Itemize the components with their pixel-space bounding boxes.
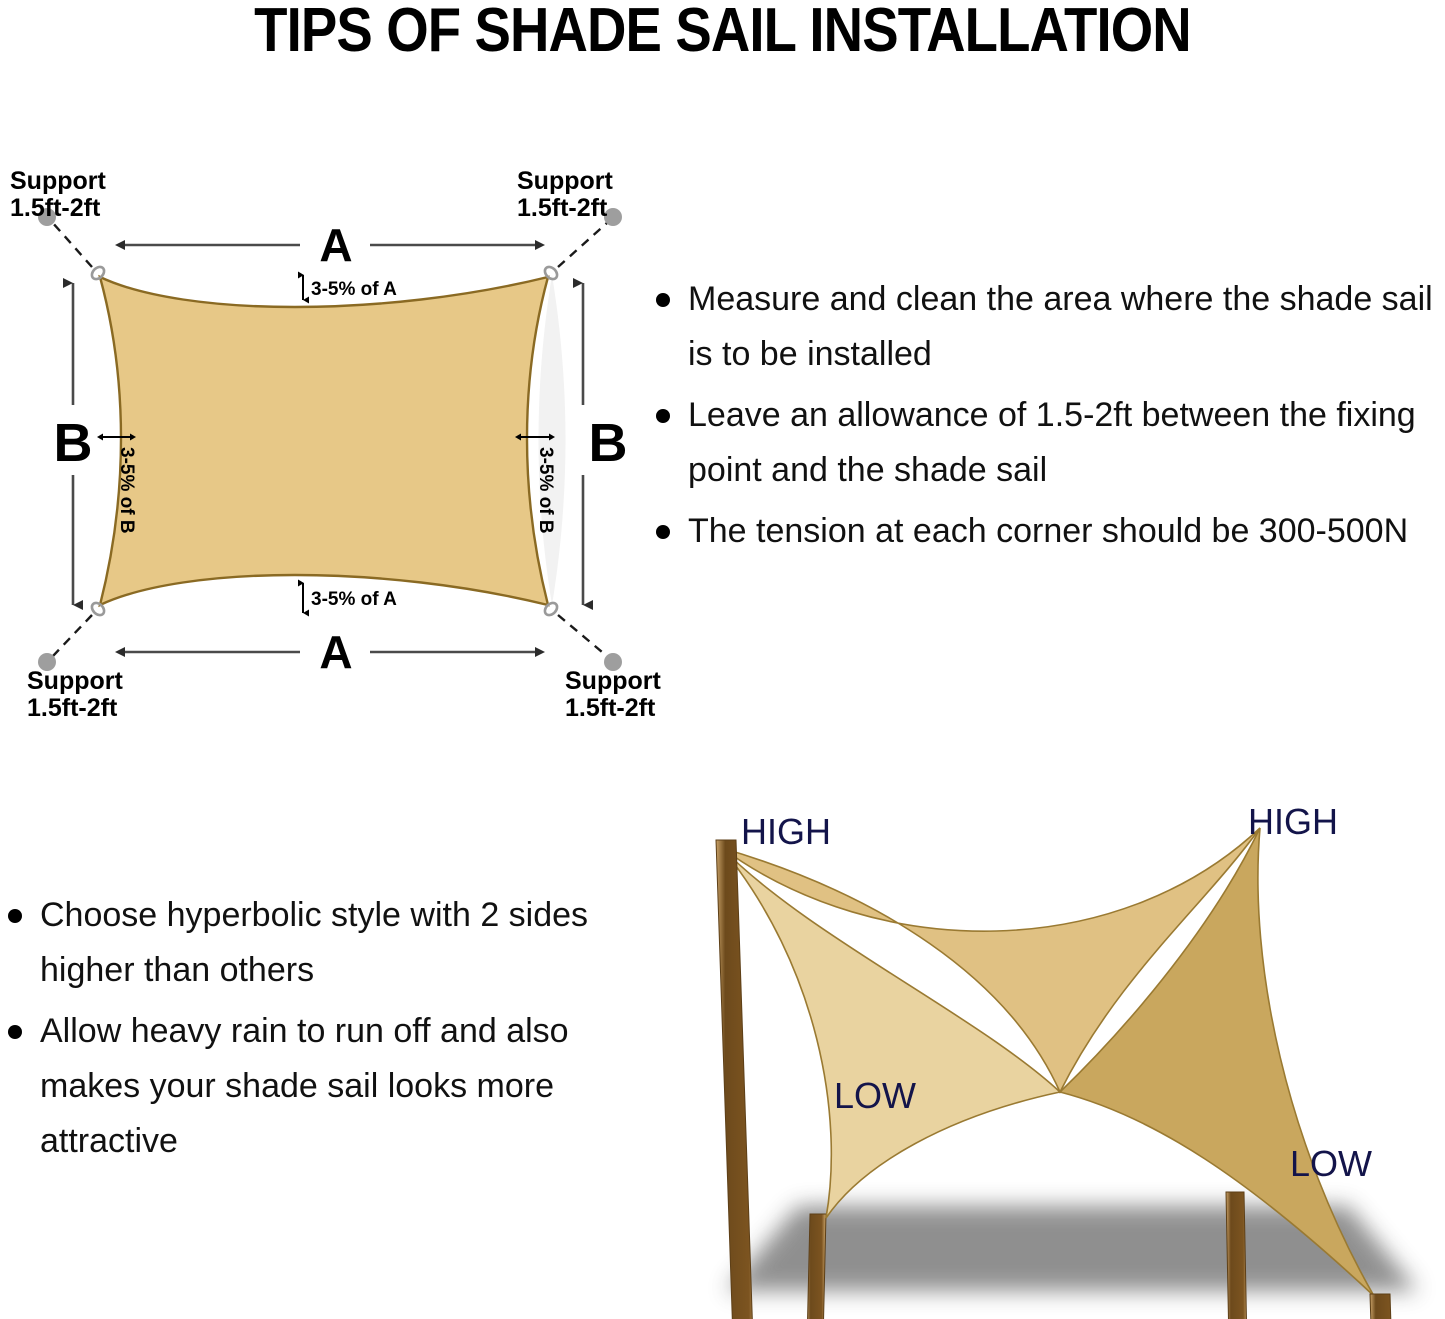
dimension-label-b-left: B xyxy=(54,413,93,473)
shade-sail-shape xyxy=(100,277,548,605)
infographic-page: TIPS OF SHADE SAIL INSTALLATION xyxy=(0,0,1445,1319)
support-label-top-right-line2: 1.5ft-2ft xyxy=(517,194,608,222)
curve-note-right: 3-5% of B xyxy=(535,447,556,534)
label-high-right: HIGH xyxy=(1248,801,1338,842)
tip-text: Leave an allowance of 1.5-2ft between th… xyxy=(688,396,1416,489)
support-label-bottom-right-line2: 1.5ft-2ft xyxy=(565,694,656,720)
rectangular-sail-diagram: A A B B 3-5% of A 3- xyxy=(0,165,680,720)
hyperbolic-sail-illustration: HIGH HIGH LOW LOW xyxy=(648,786,1445,1319)
curve-note-bottom: 3-5% of A xyxy=(311,589,397,610)
list-item: Leave an allowance of 1.5-2ft between th… xyxy=(648,388,1445,498)
list-item: Allow heavy rain to run off and also mak… xyxy=(0,1004,630,1169)
post-high-right-support xyxy=(1226,1192,1248,1319)
support-label-top-right: Support 1.5ft-2ft xyxy=(517,167,613,222)
page-title: TIPS OF SHADE SAIL INSTALLATION xyxy=(87,0,1359,63)
support-label-bottom-right-line1: Support xyxy=(565,667,661,695)
tip-text: Measure and clean the area where the sha… xyxy=(688,280,1433,373)
dimension-label-b-right: B xyxy=(589,413,628,473)
support-label-bottom-left-line1: Support xyxy=(27,667,123,695)
post-high-left xyxy=(716,840,758,1319)
label-low-left: LOW xyxy=(834,1075,916,1116)
hyperbolic-style-tips-list: Choose hyperbolic style with 2 sides hig… xyxy=(0,888,630,1175)
support-label-bottom-left-line2: 1.5ft-2ft xyxy=(27,694,118,720)
list-item: The tension at each corner should be 300… xyxy=(648,504,1445,559)
tip-text: Choose hyperbolic style with 2 sides hig… xyxy=(40,896,588,989)
sail-edge-highlight xyxy=(539,275,566,605)
curve-note-top: 3-5% of A xyxy=(311,279,397,300)
sail-panel-left xyxy=(722,848,1060,1218)
support-label-bottom-right: Support 1.5ft-2ft xyxy=(565,667,661,720)
support-label-top-left: Support 1.5ft-2ft xyxy=(10,167,106,222)
tip-text: The tension at each corner should be 300… xyxy=(688,512,1408,550)
list-item: Choose hyperbolic style with 2 sides hig… xyxy=(0,888,630,998)
label-low-right: LOW xyxy=(1290,1143,1372,1184)
post-low-right xyxy=(1370,1294,1396,1319)
curve-note-left: 3-5% of B xyxy=(116,447,137,534)
support-label-top-left-line1: Support xyxy=(10,167,106,195)
list-item: Measure and clean the area where the sha… xyxy=(648,272,1445,382)
dimension-label-a-top: A xyxy=(319,219,352,271)
installation-tips-list: Measure and clean the area where the sha… xyxy=(648,272,1445,565)
support-label-top-left-line2: 1.5ft-2ft xyxy=(10,194,101,222)
support-label-bottom-left: Support 1.5ft-2ft xyxy=(27,667,123,720)
support-label-top-right-line1: Support xyxy=(517,167,613,195)
tip-text: Allow heavy rain to run off and also mak… xyxy=(40,1012,569,1160)
dimension-label-a-bottom: A xyxy=(319,626,352,678)
label-high-left: HIGH xyxy=(741,811,831,852)
